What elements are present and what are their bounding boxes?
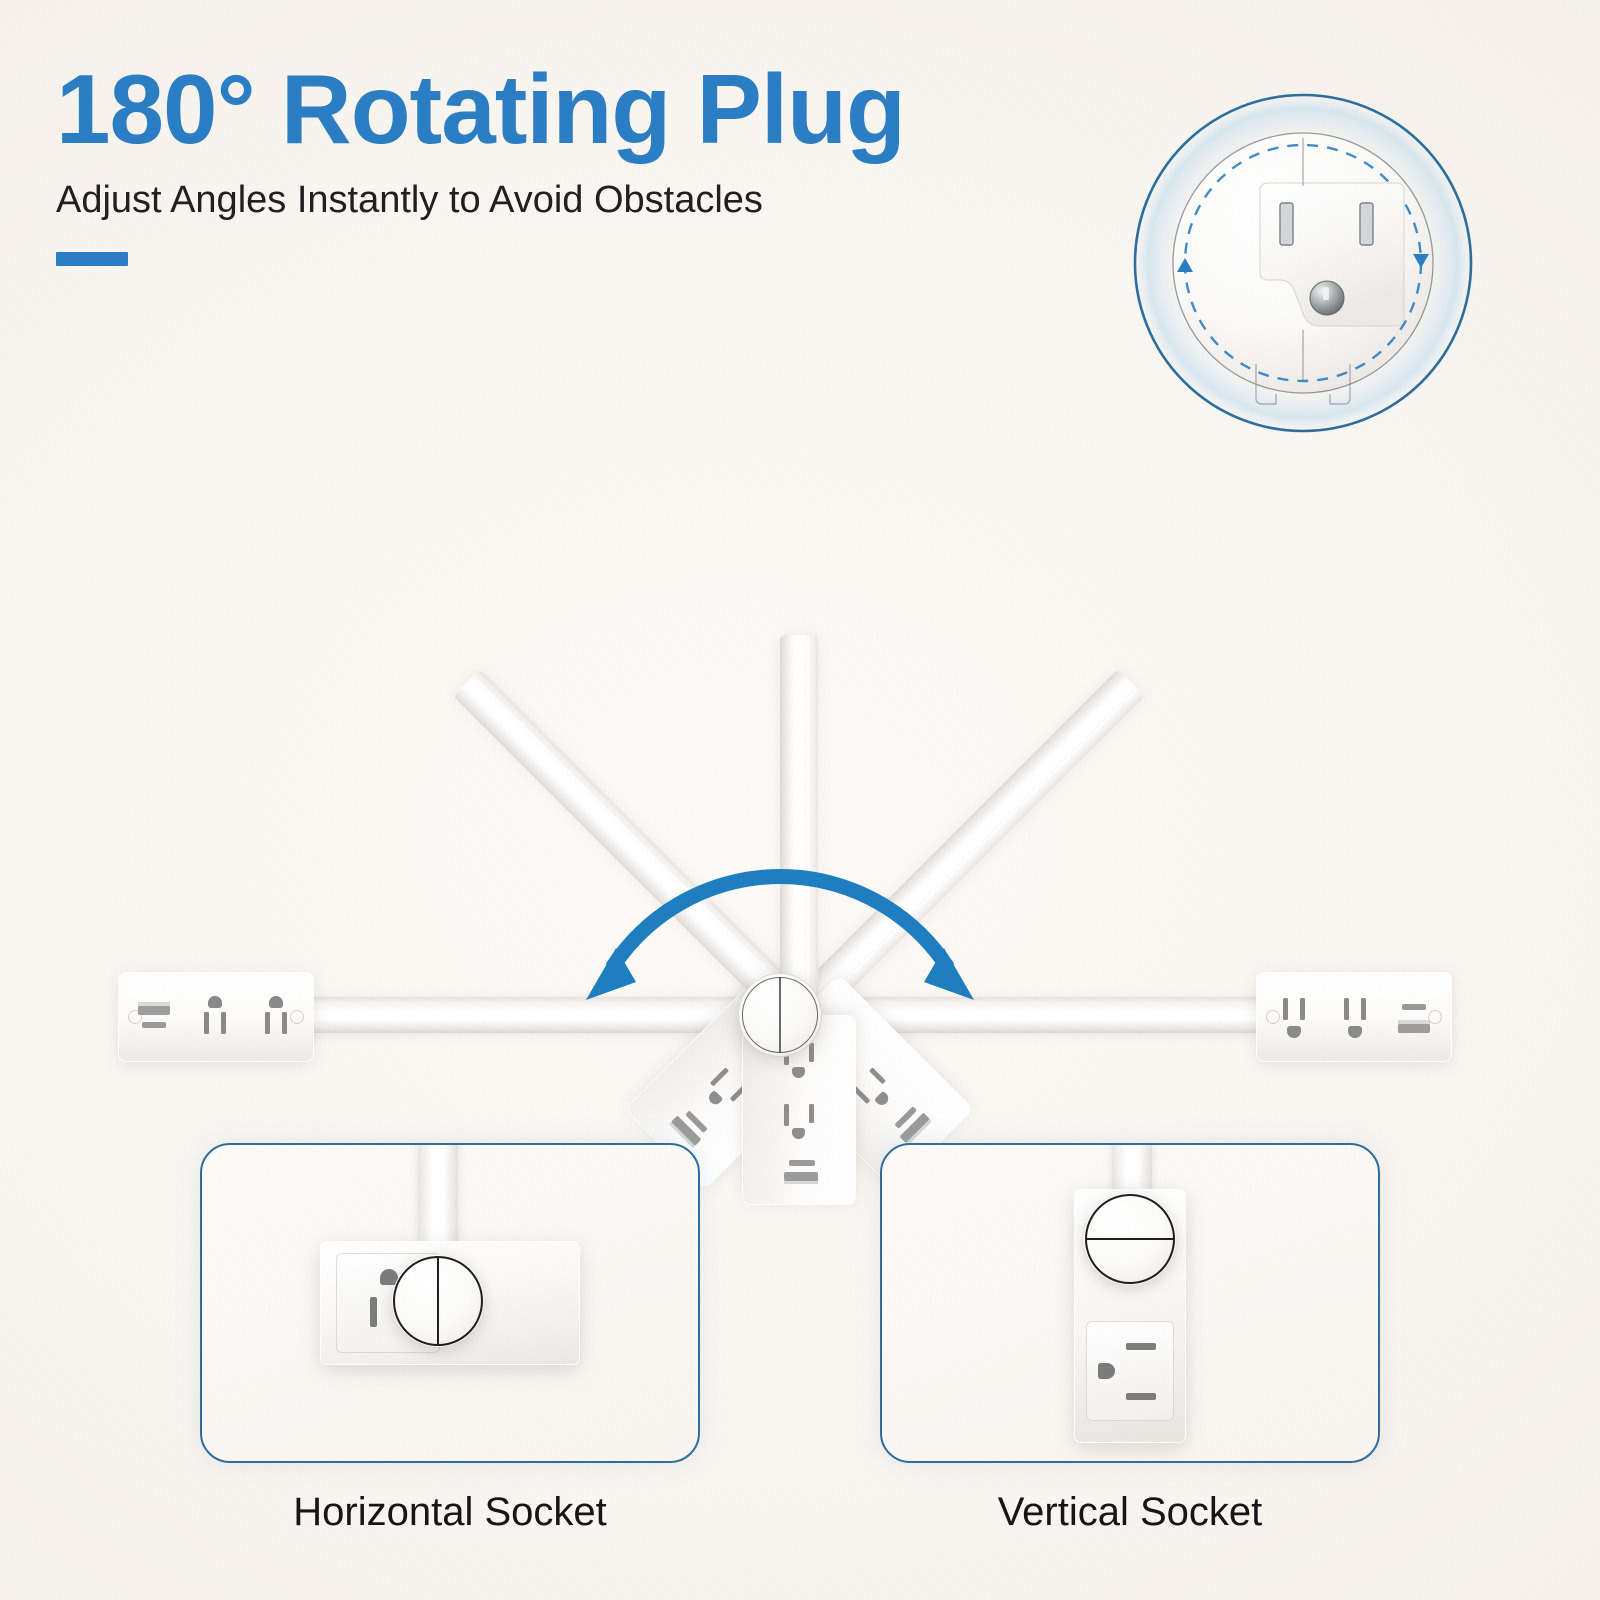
usb-bar-icon <box>789 1160 815 1166</box>
header-block: 180° Rotating Plug Adjust Angles Instant… <box>56 60 905 266</box>
usb-slot-icon <box>784 1172 818 1184</box>
rotating-plug-head[interactable] <box>1084 1193 1176 1285</box>
horizontal-socket-label: Horizontal Socket <box>200 1490 700 1535</box>
accent-bar <box>56 252 128 266</box>
plug-ground-pin-highlight <box>1323 287 1329 300</box>
plug-blade-right <box>1360 203 1373 245</box>
page-title: 180° Rotating Plug <box>56 60 905 158</box>
rotating-hinge[interactable] <box>738 973 822 1057</box>
hub-seam <box>437 1257 439 1345</box>
rotation-arc <box>612 877 948 968</box>
ground-hole-icon <box>792 1128 805 1139</box>
hub-seam <box>1086 1238 1174 1240</box>
vertical-socket-label: Vertical Socket <box>880 1490 1380 1535</box>
blade-slot-bottom-icon <box>1126 1393 1156 1400</box>
blade-slot-top-icon <box>1126 1343 1156 1350</box>
page-subtitle: Adjust Angles Instantly to Avoid Obstacl… <box>56 180 905 222</box>
plug-blade-left <box>1280 203 1293 245</box>
horizontal-socket-panel <box>200 1143 700 1463</box>
ground-hole-icon <box>1098 1363 1115 1379</box>
rotating-plug-closeup <box>1108 68 1498 458</box>
rotating-plug-head[interactable] <box>392 1255 484 1347</box>
infographic-canvas: 180° Rotating Plug Adjust Angles Instant… <box>0 0 1600 1600</box>
blade-slot-left-icon <box>370 1297 377 1327</box>
wall-receptacle <box>1086 1321 1174 1421</box>
usb-port <box>773 1156 825 1186</box>
vertical-socket-panel <box>880 1143 1380 1463</box>
